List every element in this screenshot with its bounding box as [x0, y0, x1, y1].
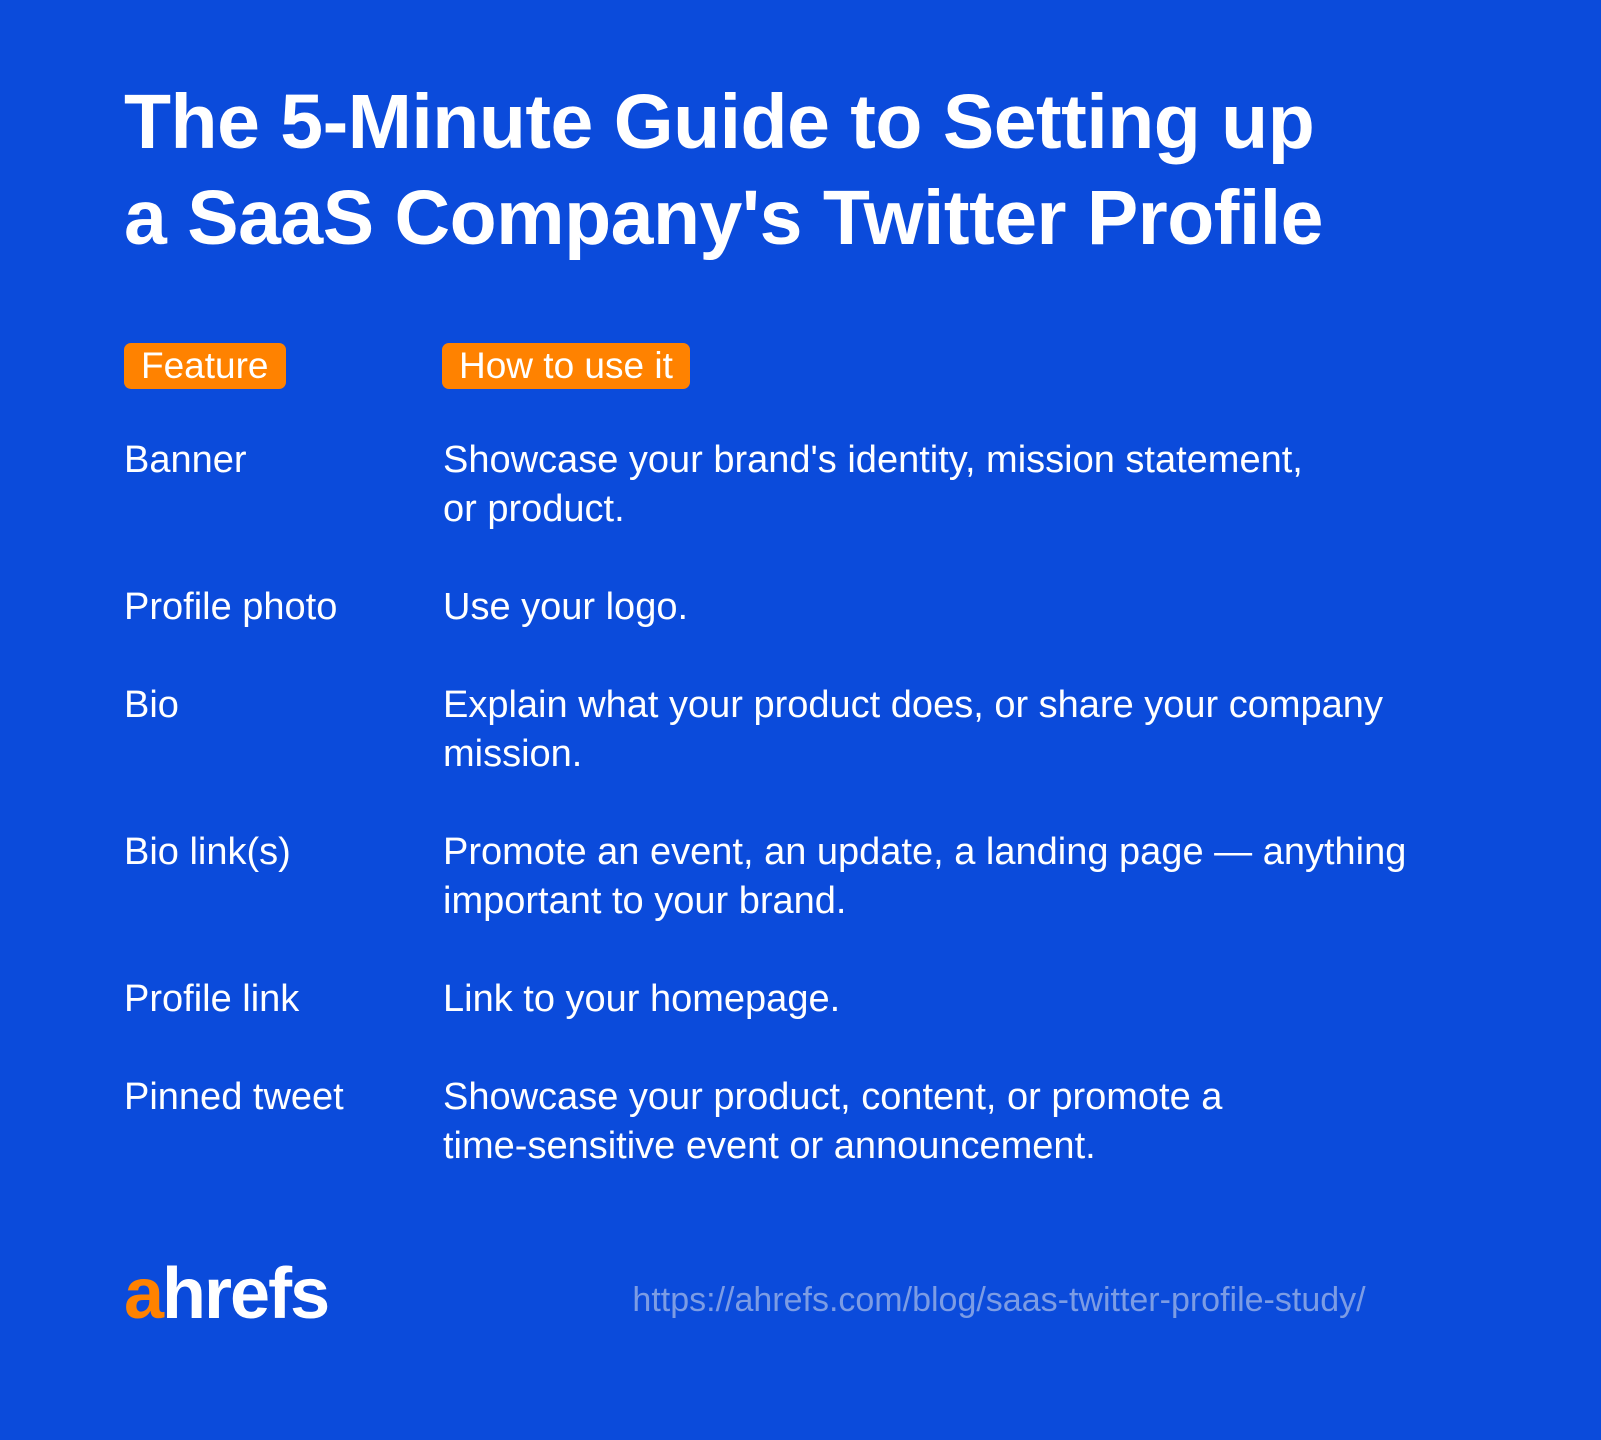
table-body: Banner Showcase your brand's identity, m…: [124, 436, 1474, 1171]
table-row: Profile link Link to your homepage.: [124, 975, 1474, 1024]
description-line: Link to your homepage.: [443, 975, 1474, 1024]
feature-description: Explain what your product does, or share…: [443, 681, 1474, 779]
ahrefs-logo: ahrefs: [124, 1258, 328, 1330]
feature-name: Profile link: [124, 975, 443, 1024]
column-header-badge-how-to-use-it: How to use it: [442, 343, 690, 389]
feature-name: Bio link(s): [124, 828, 443, 926]
description-line: time-sensitive event or announcement.: [443, 1122, 1474, 1171]
table-row: Pinned tweet Showcase your product, cont…: [124, 1073, 1474, 1171]
ahrefs-logo-wordmark: hrefs: [162, 1254, 328, 1334]
page-title: The 5-Minute Guide to Setting up a SaaS …: [124, 74, 1464, 266]
feature-description: Use your logo.: [443, 583, 1474, 632]
feature-description: Link to your homepage.: [443, 975, 1474, 1024]
feature-description: Promote an event, an update, a landing p…: [443, 828, 1474, 926]
page-title-line-1: The 5-Minute Guide to Setting up: [124, 74, 1464, 170]
description-line: mission.: [443, 730, 1474, 779]
table-row: Bio link(s) Promote an event, an update,…: [124, 828, 1474, 926]
description-line: or product.: [443, 485, 1474, 534]
description-line: important to your brand.: [443, 877, 1474, 926]
infographic-poster: The 5-Minute Guide to Setting up a SaaS …: [0, 0, 1601, 1440]
table-row: Banner Showcase your brand's identity, m…: [124, 436, 1474, 534]
table-row: Bio Explain what your product does, or s…: [124, 681, 1474, 779]
page-title-line-2: a SaaS Company's Twitter Profile: [124, 170, 1464, 266]
column-header-badge-feature: Feature: [124, 343, 286, 389]
description-line: Showcase your product, content, or promo…: [443, 1073, 1474, 1122]
feature-name: Pinned tweet: [124, 1073, 443, 1171]
feature-name: Profile photo: [124, 583, 443, 632]
feature-description: Showcase your brand's identity, mission …: [443, 436, 1474, 534]
description-line: Promote an event, an update, a landing p…: [443, 828, 1474, 877]
ahrefs-logo-accent-letter: a: [124, 1254, 162, 1334]
source-url: https://ahrefs.com/blog/saas-twitter-pro…: [524, 1280, 1474, 1320]
feature-name: Banner: [124, 436, 443, 534]
description-line: Use your logo.: [443, 583, 1474, 632]
feature-name: Bio: [124, 681, 443, 779]
description-line: Explain what your product does, or share…: [443, 681, 1474, 730]
description-line: Showcase your brand's identity, mission …: [443, 436, 1474, 485]
table-row: Profile photo Use your logo.: [124, 583, 1474, 632]
footer: ahrefs https://ahrefs.com/blog/saas-twit…: [124, 1258, 1474, 1338]
feature-description: Showcase your product, content, or promo…: [443, 1073, 1474, 1171]
